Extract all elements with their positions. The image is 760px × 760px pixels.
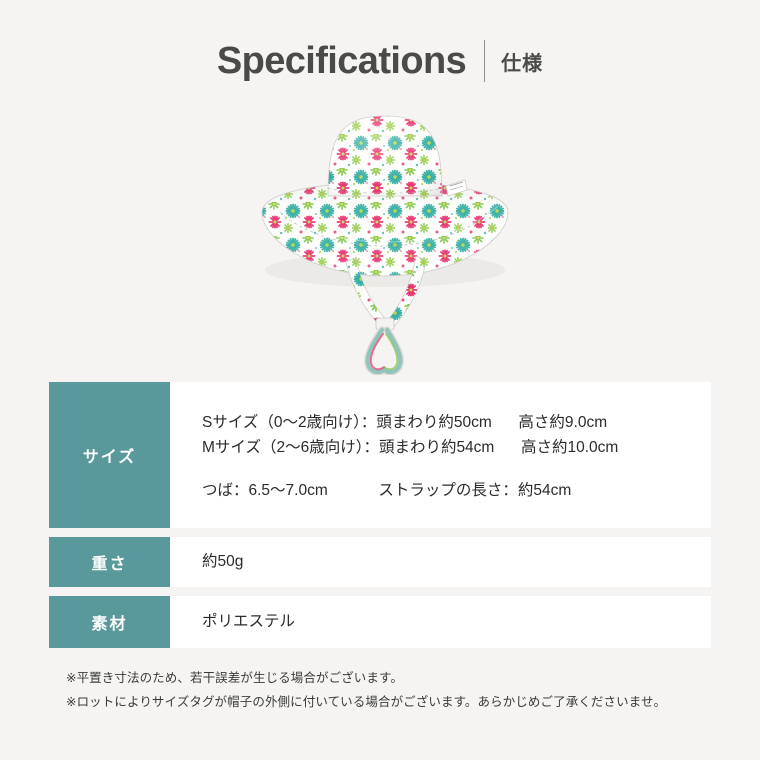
footnotes: ※平置き寸法のため、若干誤差が生じる場合がございます。 ※ロットによりサイズタグ… bbox=[66, 666, 746, 715]
size-line-extra: つば：6.5〜7.0cm ストラップの長さ：約54cm bbox=[202, 480, 711, 502]
size-s-height: 高さ約9.0cm bbox=[518, 414, 607, 431]
specifications-table: サイズ Sサイズ（0〜2歳向け）：頭まわり約50cm 高さ約9.0cm Mサイズ… bbox=[49, 382, 711, 648]
row-label-size: サイズ bbox=[49, 382, 170, 528]
brim-width: つば：6.5〜7.0cm bbox=[202, 482, 328, 499]
title-divider bbox=[484, 40, 485, 82]
size-s-measure: Sサイズ（0〜2歳向け）：頭まわり約50cm bbox=[202, 414, 492, 431]
strap-length: ストラップの長さ：約54cm bbox=[378, 482, 571, 499]
size-line-m: Mサイズ（2〜6歳向け）：頭まわり約54cm 高さ約10.0cm bbox=[202, 435, 711, 460]
hat-crown bbox=[320, 110, 450, 205]
footnote-1: ※平置き寸法のため、若干誤差が生じる場合がございます。 bbox=[66, 666, 746, 690]
size-line-s: Sサイズ（0〜2歳向け）：頭まわり約50cm 高さ約9.0cm bbox=[202, 410, 711, 435]
row-value-size: Sサイズ（0〜2歳向け）：頭まわり約50cm 高さ約9.0cm Mサイズ（2〜6… bbox=[170, 382, 711, 528]
page-title: Specifications 仕様 bbox=[0, 40, 760, 82]
row-label-weight: 重さ bbox=[49, 537, 170, 587]
row-label-material: 素材 bbox=[49, 596, 170, 648]
size-m-height: 高さ約10.0cm bbox=[521, 439, 618, 456]
footnote-2: ※ロットによりサイズタグが帽子の外側に付いている場合がございます。あらかじめご了… bbox=[66, 690, 746, 714]
size-line-group: Sサイズ（0〜2歳向け）：頭まわり約50cm 高さ約9.0cm Mサイズ（2〜6… bbox=[202, 410, 711, 460]
hat-illustration bbox=[250, 100, 520, 375]
row-value-material: ポリエステル bbox=[170, 596, 711, 648]
row-value-weight: 約50g bbox=[170, 537, 711, 587]
product-image-floral-bucket-hat bbox=[250, 100, 520, 375]
page-title-en: Specifications bbox=[217, 42, 466, 80]
material-value: ポリエステル bbox=[202, 612, 711, 632]
weight-value: 約50g bbox=[202, 552, 711, 572]
size-m-measure: Mサイズ（2〜6歳向け）：頭まわり約54cm bbox=[202, 439, 494, 456]
table-row-weight: 重さ 約50g bbox=[49, 537, 711, 587]
table-row-size: サイズ Sサイズ（0〜2歳向け）：頭まわり約50cm 高さ約9.0cm Mサイズ… bbox=[49, 382, 711, 528]
table-row-material: 素材 ポリエステル bbox=[49, 596, 711, 648]
page-title-ja: 仕様 bbox=[501, 47, 543, 76]
